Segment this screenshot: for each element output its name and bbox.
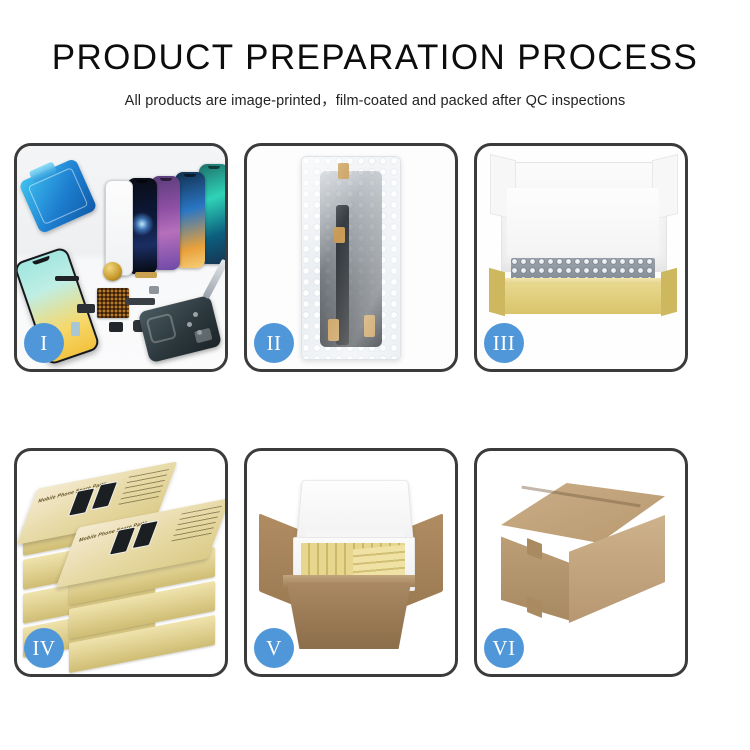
screw-icon	[197, 330, 202, 335]
flex-cable-icon	[55, 276, 79, 281]
page-subtitle: All products are image-printed，film-coat…	[0, 89, 750, 110]
step-panel-3[interactable]: III	[474, 143, 688, 372]
tape-tab-icon	[334, 227, 345, 243]
step-panel-4[interactable]: Mobile Phone Spare Parts Mobile Phone Sp…	[14, 448, 228, 677]
step-badge-4: IV	[24, 628, 64, 668]
foam-sheet-icon	[507, 188, 659, 256]
notch-icon	[160, 178, 172, 181]
sim-tray-icon	[71, 322, 80, 336]
step-panel-6[interactable]: VI	[474, 448, 688, 677]
tape-tab-icon	[364, 315, 375, 337]
step-badge-1: I	[24, 323, 64, 363]
notch-icon	[32, 256, 50, 266]
label-spec-lines	[118, 469, 169, 507]
notch-icon	[184, 174, 196, 177]
step-badge-6: VI	[484, 628, 524, 668]
tape-tab-icon	[338, 163, 349, 179]
kraft-box-front-icon	[497, 284, 669, 314]
small-module-icon	[77, 304, 95, 313]
step-badge-2: II	[254, 323, 294, 363]
page-title: PRODUCT PREPARATION PROCESS	[0, 40, 750, 77]
bubble-wrap-bag-icon	[301, 156, 401, 360]
notch-icon	[208, 166, 220, 169]
screw-icon	[187, 322, 192, 327]
carton-body-icon	[287, 583, 411, 649]
notch-icon	[136, 180, 148, 183]
step-badge-3: III	[484, 323, 524, 363]
step-badge-5: V	[254, 628, 294, 668]
page-header: PRODUCT PREPARATION PROCESS All products…	[0, 0, 750, 110]
step-panel-2[interactable]: II	[244, 143, 458, 372]
tape-tab-icon	[328, 319, 339, 341]
step-panel-5[interactable]: V	[244, 448, 458, 677]
process-steps-grid: I II III	[14, 143, 736, 677]
gold-contact-icon	[135, 272, 157, 278]
phone-lineup	[101, 164, 225, 276]
screw-icon	[193, 312, 198, 317]
speaker-icon	[109, 322, 123, 332]
bracket-icon	[149, 286, 159, 294]
foam-lid-icon	[296, 480, 414, 546]
label-spec-lines	[171, 506, 222, 544]
ribbon-cable-icon	[125, 298, 155, 305]
step-panel-1[interactable]: I	[14, 143, 228, 372]
copper-coil-icon	[103, 262, 122, 281]
